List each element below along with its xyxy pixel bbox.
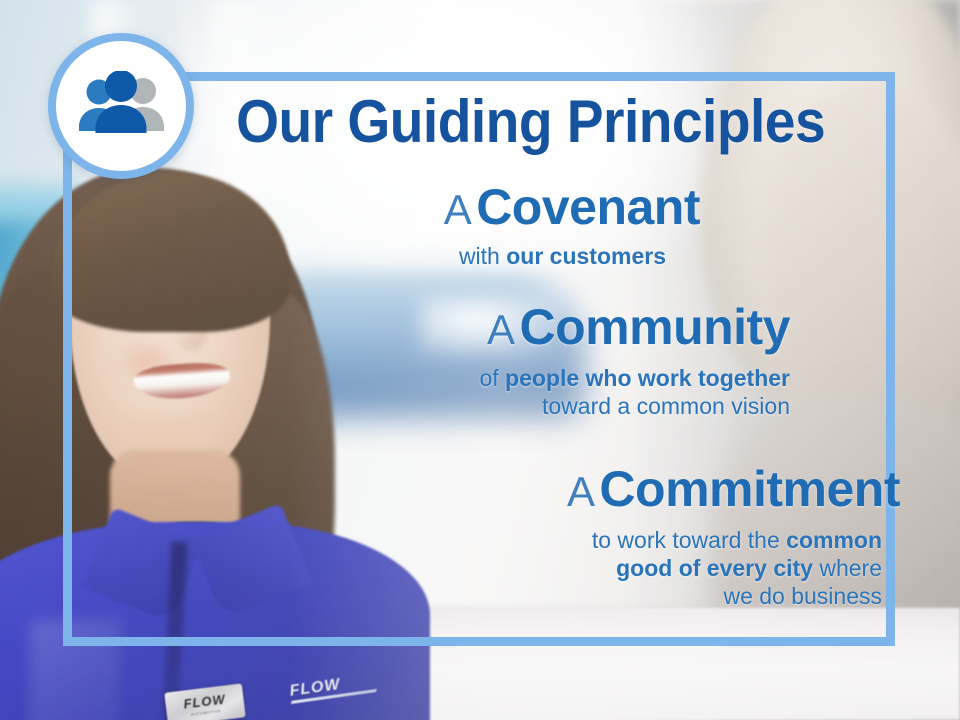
blurred-customer xyxy=(700,0,960,520)
principle-heading: A Commitment xyxy=(0,464,900,515)
page-title: Our Guiding Principles xyxy=(38,92,921,152)
subtext-plain: to work toward the xyxy=(592,527,786,553)
subtext-plain: with xyxy=(459,243,506,269)
principle-subtext-line: we do business xyxy=(0,582,882,610)
shirt-highlight xyxy=(30,620,120,720)
subtext-plain: where xyxy=(813,555,882,581)
principle-subtext-line: to work toward the common xyxy=(0,526,882,554)
guiding-principles-poster: FLOW AUTOMOTIVE FLOW xyxy=(0,0,960,720)
principle-keyword: Covenant xyxy=(476,179,700,235)
subtext-bold: good of every city xyxy=(616,555,813,581)
principle-article: A xyxy=(444,186,472,233)
principle-subtext-line: with our customers xyxy=(0,242,666,270)
principle-article: A xyxy=(567,468,595,515)
principle-subtext-line: toward a common vision xyxy=(0,392,790,420)
subtext-plain: of xyxy=(479,365,505,391)
principle-keyword: Community xyxy=(520,299,791,355)
principle-community: A Community of people who work together … xyxy=(0,302,790,420)
principle-article: A xyxy=(487,306,515,353)
subtext-bold: our customers xyxy=(506,243,666,269)
principle-keyword: Commitment xyxy=(599,461,900,517)
principle-heading: A Covenant xyxy=(0,182,700,233)
principle-covenant: A Covenant with our customers xyxy=(0,182,700,270)
principle-subtext: of people who work together toward a com… xyxy=(0,364,790,420)
principle-subtext-line: good of every city where xyxy=(0,554,882,582)
subtext-bold: people who work together xyxy=(505,365,790,391)
principle-subtext: with our customers xyxy=(0,242,700,270)
principle-subtext-line: of people who work together xyxy=(0,364,790,392)
subtext-bold: common xyxy=(786,527,882,553)
principle-heading: A Community xyxy=(0,302,790,353)
principle-commitment: A Commitment to work toward the common g… xyxy=(0,464,900,610)
principle-subtext: to work toward the common good of every … xyxy=(0,526,900,610)
